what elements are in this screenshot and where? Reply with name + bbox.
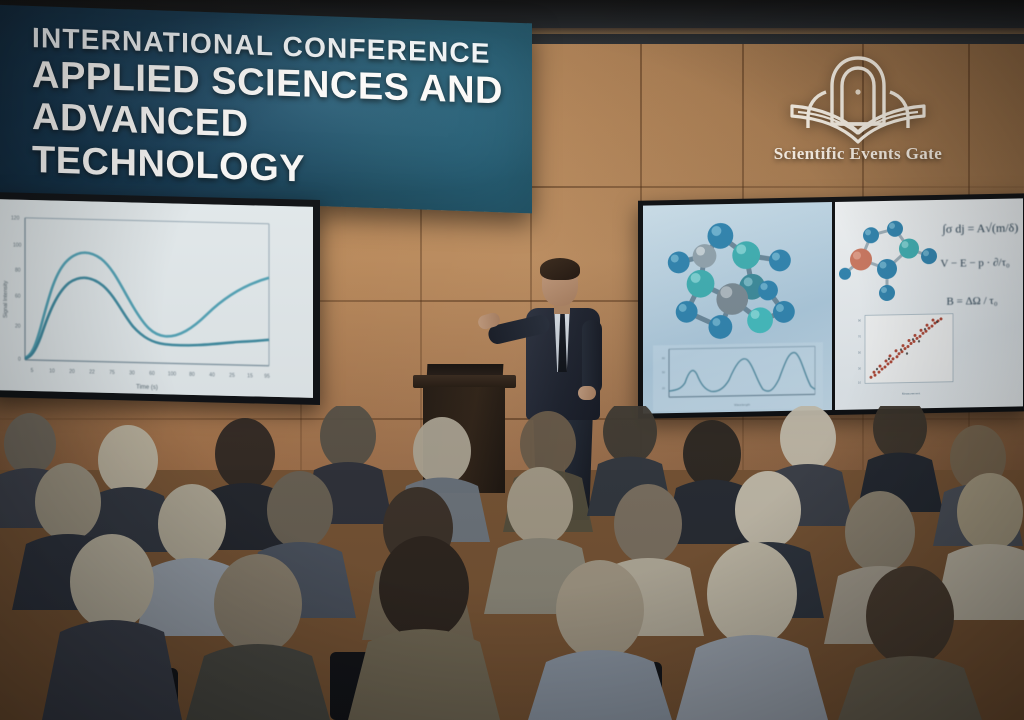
svg-text:22: 22 xyxy=(89,369,95,375)
right-screen-scatter-chart: 907050 3010 Measurement xyxy=(855,308,963,402)
conference-banner: INTERNATIONAL CONFERENCE APPLIED SCIENCE… xyxy=(0,5,532,214)
scatter-xlabel: Measurement xyxy=(901,391,920,395)
svg-text:20: 20 xyxy=(69,369,75,375)
audience-rows xyxy=(0,406,1024,720)
audience xyxy=(0,406,1024,720)
conference-photo: INTERNATIONAL CONFERENCE APPLIED SCIENCE… xyxy=(0,0,1024,720)
svg-text:100: 100 xyxy=(13,243,22,249)
left-chart-ylabel: Signal Intensity xyxy=(3,280,9,318)
svg-text:30: 30 xyxy=(858,366,861,370)
logo-wordmark: Scientific Events Gate xyxy=(752,144,964,164)
svg-text:30: 30 xyxy=(129,370,135,376)
presenter-arm xyxy=(582,320,602,394)
svg-text:0: 0 xyxy=(18,357,21,363)
svg-text:50: 50 xyxy=(858,350,861,354)
svg-text:15: 15 xyxy=(247,373,253,379)
svg-text:80: 80 xyxy=(15,268,21,274)
equation-1: ∫σ dj = A√(m/δ) xyxy=(943,220,1019,236)
left-screen-surface: 120 100 80 60 20 0 51020 227530 6010080 … xyxy=(0,199,313,398)
svg-text:75: 75 xyxy=(109,370,115,376)
svg-text:60: 60 xyxy=(149,371,155,377)
arch-gate-open-book-icon xyxy=(752,48,964,148)
svg-text:120: 120 xyxy=(11,215,20,221)
structure-equations-scatter-panel: ∫σ dj = A√(m/δ) V − E − p · ∂/τ₀ B = ΔΩ … xyxy=(835,198,1024,410)
svg-text:5: 5 xyxy=(31,368,34,374)
banner-line-3: ADVANCED TECHNOLOGY xyxy=(32,96,532,199)
svg-text:20: 20 xyxy=(15,324,21,330)
svg-text:100: 100 xyxy=(168,371,177,377)
svg-text:40: 40 xyxy=(209,372,215,378)
presenter-hand xyxy=(578,386,596,400)
svg-text:10: 10 xyxy=(858,380,861,384)
svg-text:25: 25 xyxy=(229,373,235,379)
left-projection-screen: 120 100 80 60 20 0 51020 227530 6010080 … xyxy=(0,192,320,405)
organizer-logo: Scientific Events Gate xyxy=(752,48,964,176)
presenter-hair xyxy=(540,258,580,280)
svg-text:80: 80 xyxy=(189,372,195,378)
svg-text:70: 70 xyxy=(858,334,861,338)
left-screen-line-chart: 120 100 80 60 20 0 51020 227530 6010080 … xyxy=(0,199,313,398)
svg-text:90: 90 xyxy=(858,318,861,322)
svg-text:95: 95 xyxy=(264,374,270,380)
right-projection-screen: 805020 Wavelength xyxy=(638,193,1024,418)
left-chart-xlabel: Time (s) xyxy=(136,385,158,392)
svg-text:60: 60 xyxy=(15,294,21,300)
right-screen-spectrum-chart: 805020 Wavelength xyxy=(653,342,823,411)
svg-text:10: 10 xyxy=(49,368,55,374)
molecule-and-spectrum-panel: 805020 Wavelength xyxy=(643,202,832,414)
equation-3: B = ΔΩ / τ₀ xyxy=(947,295,998,308)
equation-2: V − E − p · ∂/τ₀ xyxy=(941,257,1010,270)
chemical-structure-diagram xyxy=(839,212,944,306)
